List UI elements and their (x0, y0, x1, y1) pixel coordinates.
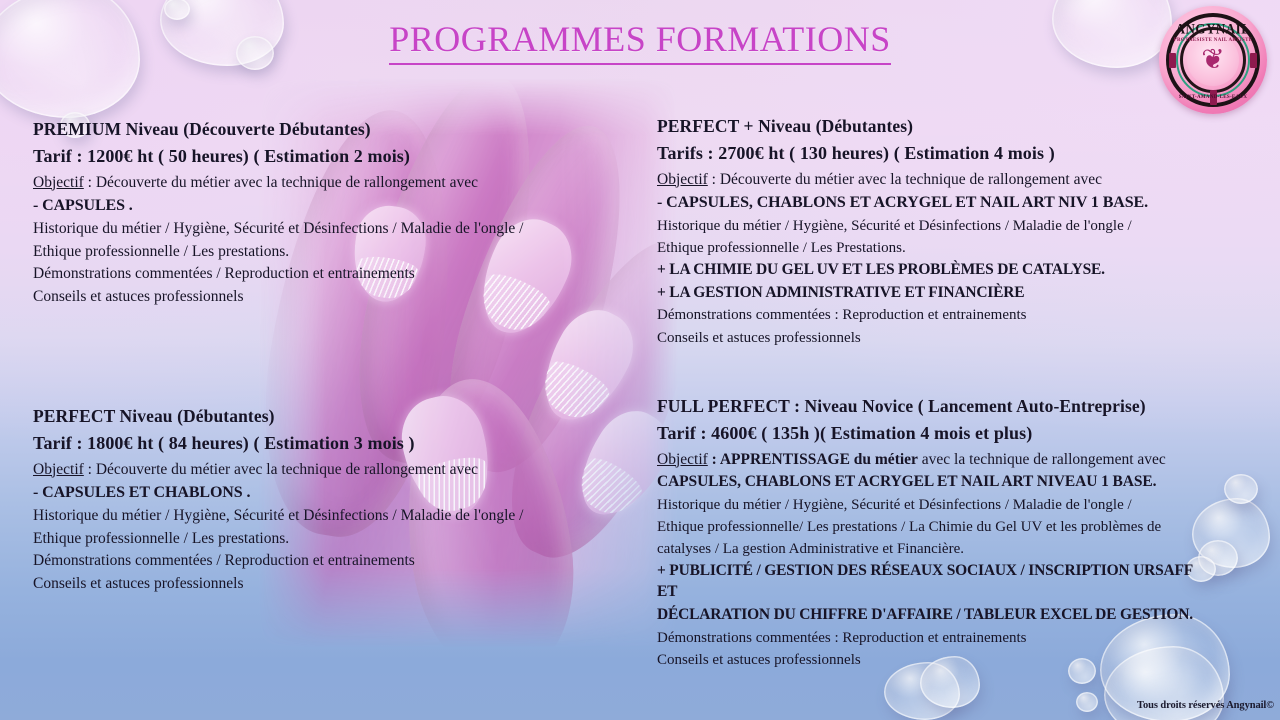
program-line: Conseils et astuces professionnels (33, 287, 578, 308)
program-extra: DÉCLARATION DU CHIFFRE D'AFFAIRE / TABLE… (657, 605, 1202, 626)
program-line: Démonstrations commentées : Reproduction… (657, 305, 1202, 325)
program-block-perfect-plus: PERFECT + Niveau (Débutantes) Tarifs : 2… (657, 115, 1202, 350)
objective-text: avec la technique de rallongement avec (918, 451, 1166, 468)
water-droplet (1076, 692, 1098, 712)
page-title-text: PROGRAMMES FORMATIONS (389, 18, 891, 65)
program-block-full-perfect: FULL PERFECT : Niveau Novice ( Lancement… (657, 395, 1202, 672)
water-droplet (1224, 474, 1258, 504)
program-objective: Objectif : APPRENTISSAGE du métier avec … (657, 450, 1202, 471)
program-price: Tarif : 1200€ ht ( 50 heures) ( Estimati… (33, 144, 578, 168)
logo-tick-left (1169, 53, 1176, 68)
objective-text: : Découverte du métier avec la technique… (84, 461, 478, 478)
program-extra: + PUBLICITÉ / GESTION DES RÉSEAUX SOCIAU… (657, 561, 1202, 603)
program-objective: Objectif : Découverte du métier avec la … (33, 173, 578, 194)
objective-label: Objectif (33, 461, 84, 478)
logo-subtitle-text: PROTHESISTE NAIL ARTISTE (1159, 38, 1267, 43)
program-title: PERFECT Niveau (Débutantes) (33, 405, 578, 428)
program-title: PERFECT + Niveau (Débutantes) (657, 115, 1202, 138)
objective-label: Objectif (657, 451, 708, 468)
program-line: Conseils et astuces professionnels (33, 574, 578, 595)
program-line: Conseils et astuces professionnels (657, 650, 1202, 670)
program-line: Historique du métier / Hygiène, Sécurité… (657, 216, 1202, 236)
objective-bold: : APPRENTISSAGE du métier (708, 451, 918, 468)
program-line: Ethique professionnelle / Les prestation… (33, 529, 578, 550)
program-block-perfect: PERFECT Niveau (Débutantes) Tarif : 1800… (33, 405, 578, 597)
objective-label: Objectif (33, 174, 84, 191)
program-objective: Objectif : Découverte du métier avec la … (33, 460, 578, 481)
logo-city-text: SAINT-AMAND-LES-EAUX (1159, 95, 1267, 100)
program-line: catalyses / La gestion Administrative et… (657, 539, 1202, 559)
program-price: Tarif : 1800€ ht ( 84 heures) ( Estimati… (33, 431, 578, 455)
program-block-premium: PREMIUM Niveau (Découverte Débutantes) T… (33, 118, 578, 310)
program-price: Tarif : 4600€ ( 135h )( Estimation 4 moi… (657, 421, 1202, 445)
program-techniques: CAPSULES, CHABLONS ET ACRYGEL ET NAIL AR… (657, 472, 1202, 493)
program-line: Ethique professionnelle / Les prestation… (33, 242, 578, 263)
program-line: Historique du métier / Hygiène, Sécurité… (33, 219, 578, 240)
program-price: Tarifs : 2700€ ht ( 130 heures) ( Estima… (657, 141, 1202, 165)
program-line: Conseils et astuces professionnels (657, 328, 1202, 348)
program-techniques: - CAPSULES, CHABLONS ET ACRYGEL ET NAIL … (657, 192, 1202, 213)
program-line: Démonstrations commentées / Reproduction… (33, 264, 578, 285)
program-line: Démonstrations commentées : Reproduction… (657, 628, 1202, 648)
program-line: Historique du métier / Hygiène, Sécurité… (33, 506, 578, 527)
program-title: FULL PERFECT : Niveau Novice ( Lancement… (657, 395, 1202, 418)
program-objective: Objectif : Découverte du métier avec la … (657, 170, 1202, 191)
objective-text: : Découverte du métier avec la technique… (708, 171, 1102, 188)
page-title: PROGRAMMES FORMATIONS (0, 18, 1280, 65)
logo-flourish-icon: ❦ (1201, 47, 1224, 75)
program-line: Ethique professionnelle / Les Prestation… (657, 238, 1202, 258)
program-extra: + LA CHIMIE DU GEL UV ET LES PROBLÈMES D… (657, 260, 1202, 281)
program-techniques: - CAPSULES . (33, 195, 578, 216)
program-techniques: - CAPSULES ET CHABLONS . (33, 482, 578, 503)
angynail-logo: ANGYNAIL PROTHESISTE NAIL ARTISTE ❦ SAIN… (1159, 6, 1267, 114)
program-extra: + LA GESTION ADMINISTRATIVE ET FINANCIÈR… (657, 283, 1202, 304)
objective-text: : Découverte du métier avec la technique… (84, 174, 478, 191)
slide-canvas: PROGRAMMES FORMATIONS ANGYNAIL PROTHESIS… (0, 0, 1280, 720)
program-line: Démonstrations commentées / Reproduction… (33, 551, 578, 572)
logo-tick-right (1250, 53, 1257, 68)
program-line: Ethique professionnelle/ Les prestations… (657, 517, 1202, 537)
copyright-footer: Tous droits réservés Angynail© (1137, 700, 1274, 711)
program-title: PREMIUM Niveau (Découverte Débutantes) (33, 118, 578, 141)
logo-brand-text: ANGYNAIL (1159, 20, 1267, 38)
program-line: Historique du métier / Hygiène, Sécurité… (657, 495, 1202, 515)
objective-label: Objectif (657, 171, 708, 188)
